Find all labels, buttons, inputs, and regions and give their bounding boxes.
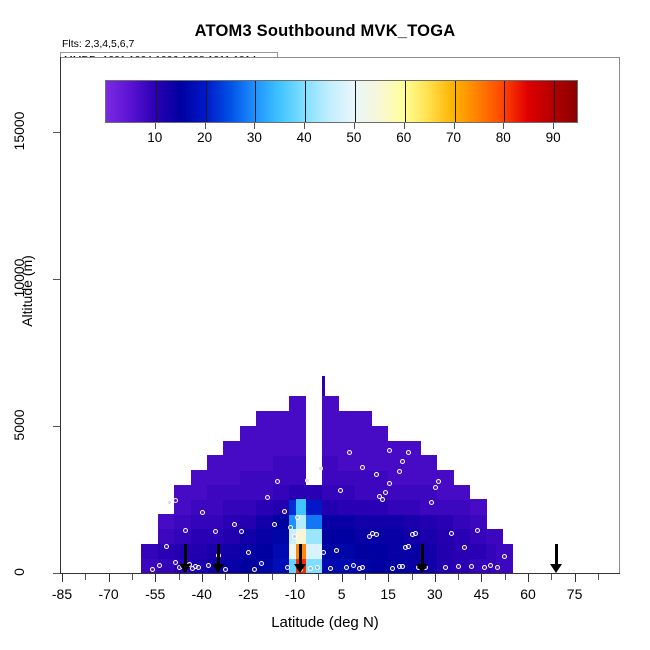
data-point-marker [495, 565, 500, 570]
y-axis-tick [53, 426, 60, 427]
heatmap-cell [174, 514, 191, 529]
data-point-marker [246, 550, 251, 555]
x-axis-tick [575, 574, 576, 582]
x-axis-tick [62, 574, 63, 582]
heatmap-cell [306, 529, 323, 544]
heatmap-cell [371, 499, 388, 514]
heatmap-cell [420, 514, 437, 529]
x-axis-tick [528, 574, 529, 582]
heatmap-cell [273, 411, 290, 426]
heatmap-cell [240, 426, 257, 441]
heatmap-cell [223, 485, 240, 500]
x-axis-minor-tick [85, 574, 86, 580]
heatmap-cell [191, 514, 208, 529]
heatmap-cell [404, 514, 421, 529]
heatmap-cell [404, 499, 421, 514]
heatmap-cell [273, 544, 290, 559]
heatmap-cell [306, 514, 323, 529]
data-point-marker [328, 566, 333, 571]
heatmap-cell [289, 455, 306, 470]
x-axis-minor-tick [179, 574, 180, 580]
heatmap-cell [338, 529, 355, 544]
heatmap-cell [371, 441, 388, 456]
x-axis-minor-tick [551, 574, 552, 580]
heatmap-cell [388, 499, 405, 514]
data-point-marker [282, 509, 287, 514]
heatmap-cell [306, 544, 323, 559]
data-point-marker [462, 545, 467, 550]
heatmap-cell [338, 499, 355, 514]
data-point-marker [157, 563, 162, 568]
heatmap-cell [388, 544, 405, 559]
data-point-marker [400, 459, 405, 464]
heatmap-cell [322, 455, 339, 470]
heatmap-cell [338, 544, 355, 559]
heatmap-cell [158, 529, 175, 544]
data-point-marker [456, 564, 461, 569]
heatmap-cell [453, 529, 470, 544]
heatmap-cell [355, 485, 372, 500]
figure-canvas: ATOM3 Southbound MVK_TOGA Flts: 2,3,4,5,… [0, 0, 650, 650]
heatmap-cell [191, 470, 208, 485]
data-point-marker [449, 531, 454, 536]
x-axis-minor-tick [598, 574, 599, 580]
heatmap-cell [289, 470, 306, 485]
heatmap-cell [289, 426, 306, 441]
data-point-marker [400, 564, 405, 569]
heatmap-cell [322, 514, 339, 529]
x-axis-tick [248, 574, 249, 582]
data-point-marker [259, 561, 264, 566]
heatmap-cell [355, 470, 372, 485]
data-point-marker [502, 554, 507, 559]
y-axis-tick-label: 5000 [11, 390, 27, 460]
heatmap-cell [289, 485, 306, 500]
heatmap-cell [322, 529, 339, 544]
heatmap-cell [256, 499, 273, 514]
heatmap-cell [289, 411, 306, 426]
apex-spike [322, 376, 325, 397]
heatmap-cell [306, 485, 323, 500]
heatmap-cell [273, 441, 290, 456]
heatmap-cell [223, 455, 240, 470]
data-point-marker [305, 478, 310, 483]
heatmap-cell [338, 426, 355, 441]
heatmap-cell [240, 485, 257, 500]
heatmap-cell [355, 411, 372, 426]
heatmap-cell [223, 529, 240, 544]
heatmap-cell [256, 411, 273, 426]
x-axis-minor-tick [272, 574, 273, 580]
heatmap-cell [223, 470, 240, 485]
heatmap-cell [355, 499, 372, 514]
heatmap-cell [322, 441, 339, 456]
heatmap-cell [470, 499, 487, 514]
heatmap-cell [191, 544, 208, 559]
data-point-marker [167, 500, 172, 505]
heatmap-cell [371, 544, 388, 559]
heatmap-cell [256, 455, 273, 470]
heatmap-cell [289, 396, 306, 411]
heatmap-data-layer [61, 58, 619, 573]
heatmap-cell [256, 441, 273, 456]
heatmap-cell [256, 558, 273, 573]
heatmap-cell [223, 499, 240, 514]
heatmap-cell [437, 499, 454, 514]
x-axis-tick [481, 574, 482, 582]
heatmap-cell [404, 485, 421, 500]
data-point-marker [433, 485, 438, 490]
heatmap-cell [470, 544, 487, 559]
x-axis-tick [435, 574, 436, 582]
heatmap-cell [256, 426, 273, 441]
heatmap-cell [207, 455, 224, 470]
heatmap-cell [256, 514, 273, 529]
heatmap-cell [371, 558, 388, 573]
heatmap-cell [240, 514, 257, 529]
heatmap-cell [273, 455, 290, 470]
data-point-marker [321, 550, 326, 555]
heatmap-cell [338, 470, 355, 485]
heatmap-cell [437, 514, 454, 529]
data-point-marker [344, 565, 349, 570]
data-point-marker [390, 566, 395, 571]
heatmap-cell [322, 470, 339, 485]
x-axis-minor-tick [318, 574, 319, 580]
x-axis-tick [202, 574, 203, 582]
data-point-marker [469, 564, 474, 569]
heatmap-cell [223, 441, 240, 456]
heatmap-cell [191, 485, 208, 500]
heatmap-cell [223, 544, 240, 559]
heatmap-cell [420, 455, 437, 470]
y-axis-tick [53, 132, 60, 133]
heatmap-cell [420, 470, 437, 485]
x-axis-minor-tick [225, 574, 226, 580]
y-axis-tick-label: 0 [11, 537, 27, 607]
heatmap-cell [371, 514, 388, 529]
heatmap-cell [322, 499, 339, 514]
data-point-marker [351, 563, 356, 568]
heatmap-cell [141, 544, 158, 559]
data-point-marker [374, 532, 379, 537]
data-point-marker [338, 488, 343, 493]
heatmap-cell [207, 499, 224, 514]
x-axis-line [60, 573, 620, 574]
x-axis-tick [388, 574, 389, 582]
data-point-marker [272, 522, 277, 527]
heatmap-cell [388, 514, 405, 529]
heatmap-cell [437, 485, 454, 500]
heatmap-cell [256, 544, 273, 559]
data-point-marker [374, 472, 379, 477]
data-point-marker [443, 565, 448, 570]
heatmap-cell [322, 411, 339, 426]
profile-marker-arrow [550, 542, 563, 573]
data-point-marker [315, 565, 320, 570]
heatmap-cell [207, 470, 224, 485]
heatmap-cell [158, 514, 175, 529]
y-axis-line [60, 57, 61, 574]
profile-marker-arrow [416, 542, 429, 573]
x-axis-minor-tick [132, 574, 133, 580]
x-axis-minor-tick [412, 574, 413, 580]
heatmap-cell [338, 455, 355, 470]
heatmap-cell [240, 499, 257, 514]
x-axis-minor-tick [365, 574, 366, 580]
heatmap-cell [207, 485, 224, 500]
data-point-marker [397, 469, 402, 474]
data-point-marker [292, 534, 297, 539]
heatmap-cell [240, 470, 257, 485]
data-point-marker [295, 515, 300, 520]
profile-marker-arrow [212, 542, 225, 573]
heatmap-cell [240, 455, 257, 470]
heatmap-cell [486, 529, 503, 544]
heatmap-cell [207, 514, 224, 529]
x-axis-title: Latitude (deg N) [0, 614, 650, 631]
x-axis-tick-label: 75 [545, 586, 605, 602]
heatmap-cell [306, 499, 323, 514]
x-axis-minor-tick [458, 574, 459, 580]
x-axis-tick [342, 574, 343, 582]
x-axis-tick [109, 574, 110, 582]
data-point-marker [387, 481, 392, 486]
heatmap-cell [388, 529, 405, 544]
x-axis-tick [155, 574, 156, 582]
y-axis-tick [53, 573, 60, 574]
heatmap-cell [289, 441, 306, 456]
heatmap-cell [322, 426, 339, 441]
data-point-marker [200, 510, 205, 515]
data-point-marker [164, 544, 169, 549]
y-axis-tick [53, 279, 60, 280]
heatmap-cell [371, 455, 388, 470]
heatmap-cell [355, 514, 372, 529]
heatmap-cell [355, 544, 372, 559]
profile-marker-arrow [179, 542, 192, 573]
heatmap-cell [355, 441, 372, 456]
x-axis-tick [295, 574, 296, 582]
heatmap-cell [322, 396, 339, 411]
heatmap-cell [191, 529, 208, 544]
profile-marker-arrow [294, 542, 307, 573]
heatmap-cell [273, 529, 290, 544]
heatmap-cell [388, 485, 405, 500]
heatmap-cell [437, 544, 454, 559]
heatmap-cell [256, 470, 273, 485]
heatmap-cell [453, 514, 470, 529]
heatmap-cell [453, 485, 470, 500]
heatmap-cell [404, 455, 421, 470]
heatmap-cell [404, 470, 421, 485]
heatmap-cell [322, 485, 339, 500]
heatmap-cell [240, 441, 257, 456]
heatmap-cell [338, 411, 355, 426]
x-axis-minor-tick [505, 574, 506, 580]
heatmap-cell [338, 514, 355, 529]
y-axis-tick-label: 15000 [11, 96, 27, 166]
heatmap-cell [453, 499, 470, 514]
heatmap-cell [256, 529, 273, 544]
flights-annotation: Flts: 2,3,4,5,6,7 [62, 38, 134, 50]
data-point-marker [413, 531, 418, 536]
heatmap-cell [355, 426, 372, 441]
data-point-marker [318, 466, 323, 471]
heatmap-cell [273, 426, 290, 441]
y-axis-title: Altitude (m) [19, 236, 35, 346]
heatmap-cell [371, 426, 388, 441]
heatmap-cell [273, 485, 290, 500]
